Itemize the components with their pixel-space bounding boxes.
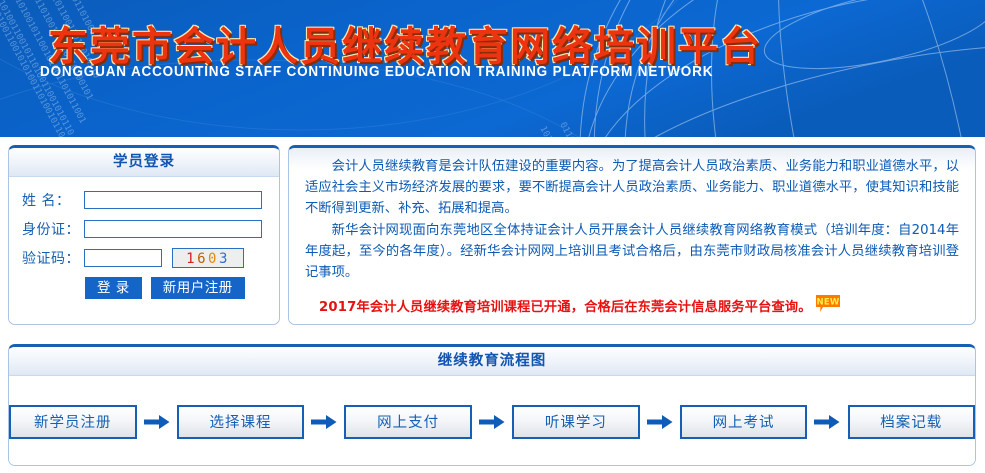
notice-paragraph-1: 会计人员继续教育是会计队伍建设的重要内容。为了提高会计人员政治素质、业务能力和职… xyxy=(305,156,959,219)
captcha-digit-4: 3 xyxy=(219,251,230,267)
flowchart-panel: 继续教育流程图 新学员注册 选择课程 网上支付 听课学习 网上考试 档案记载 xyxy=(8,344,976,466)
new-badge-label: NEW xyxy=(816,297,839,307)
id-label: 身份证： xyxy=(22,219,84,239)
notice-panel: 会计人员继续教育是会计队伍建设的重要内容。为了提高会计人员政治素质、业务能力和职… xyxy=(288,145,976,325)
flow-arrow-4-icon xyxy=(640,414,680,430)
captcha-field-row: 验证码： 1603 xyxy=(22,248,279,268)
main-content-row: 学员登录 姓 名： 身份证： 验证码： 1603 登 录 新用户注册 xyxy=(0,137,985,333)
notice-paragraph-2: 新华会计网现面向东莞地区全体持证会计人员开展会计人员继续教育网络教育模式（培训年… xyxy=(305,220,959,283)
flow-step-study[interactable]: 听课学习 xyxy=(512,405,640,439)
register-button[interactable]: 新用户注册 xyxy=(151,277,245,299)
notice-content: 会计人员继续教育是会计队伍建设的重要内容。为了提高会计人员政治素质、业务能力和职… xyxy=(289,156,975,318)
name-label: 姓 名： xyxy=(22,190,84,210)
flow-step-online-payment[interactable]: 网上支付 xyxy=(344,405,472,439)
id-number-input[interactable] xyxy=(84,220,262,238)
site-banner: 01001100101010011010010110 1010011001011… xyxy=(0,0,985,137)
captcha-label: 验证码： xyxy=(22,248,84,268)
new-badge-icon: NEW xyxy=(816,295,840,312)
flowchart-title: 继续教育流程图 xyxy=(9,347,975,376)
site-subtitle: DONGGUAN ACCOUNTING STAFF CONTINUING EDU… xyxy=(40,64,713,80)
new-badge: NEW xyxy=(816,295,840,316)
name-field-row: 姓 名： xyxy=(22,190,279,210)
captcha-digit-2: 6 xyxy=(197,251,208,267)
captcha-input[interactable] xyxy=(84,249,162,267)
flow-arrow-5-icon xyxy=(807,414,847,430)
notice-alert-line: 2017年会计人员继续教育培训课程已开通，合格后在东莞会计信息服务平台查询。 N… xyxy=(319,296,959,318)
flow-arrow-3-icon xyxy=(472,414,512,430)
login-form: 姓 名： 身份证： 验证码： 1603 登 录 新用户注册 xyxy=(9,177,279,299)
login-panel-title: 学员登录 xyxy=(9,148,279,177)
id-field-row: 身份证： xyxy=(22,219,279,239)
captcha-digit-3: 0 xyxy=(208,251,219,267)
flow-step-online-exam[interactable]: 网上考试 xyxy=(680,405,808,439)
flow-arrow-1-icon xyxy=(137,414,177,430)
captcha-image[interactable]: 1603 xyxy=(172,248,244,268)
name-input[interactable] xyxy=(84,191,262,209)
flowchart-steps: 新学员注册 选择课程 网上支付 听课学习 网上考试 档案记载 xyxy=(9,376,975,466)
login-buttons: 登 录 新用户注册 xyxy=(85,277,279,299)
flow-step-register[interactable]: 新学员注册 xyxy=(9,405,137,439)
notice-alert-text: 2017年会计人员继续教育培训课程已开通，合格后在东莞会计信息服务平台查询。 xyxy=(319,300,812,315)
login-button[interactable]: 登 录 xyxy=(85,277,142,299)
flow-step-select-course[interactable]: 选择课程 xyxy=(177,405,305,439)
flow-arrow-2-icon xyxy=(304,414,344,430)
login-panel: 学员登录 姓 名： 身份证： 验证码： 1603 登 录 新用户注册 xyxy=(8,145,280,325)
flow-step-archive-record[interactable]: 档案记载 xyxy=(848,405,976,439)
captcha-digit-1: 1 xyxy=(186,251,197,267)
